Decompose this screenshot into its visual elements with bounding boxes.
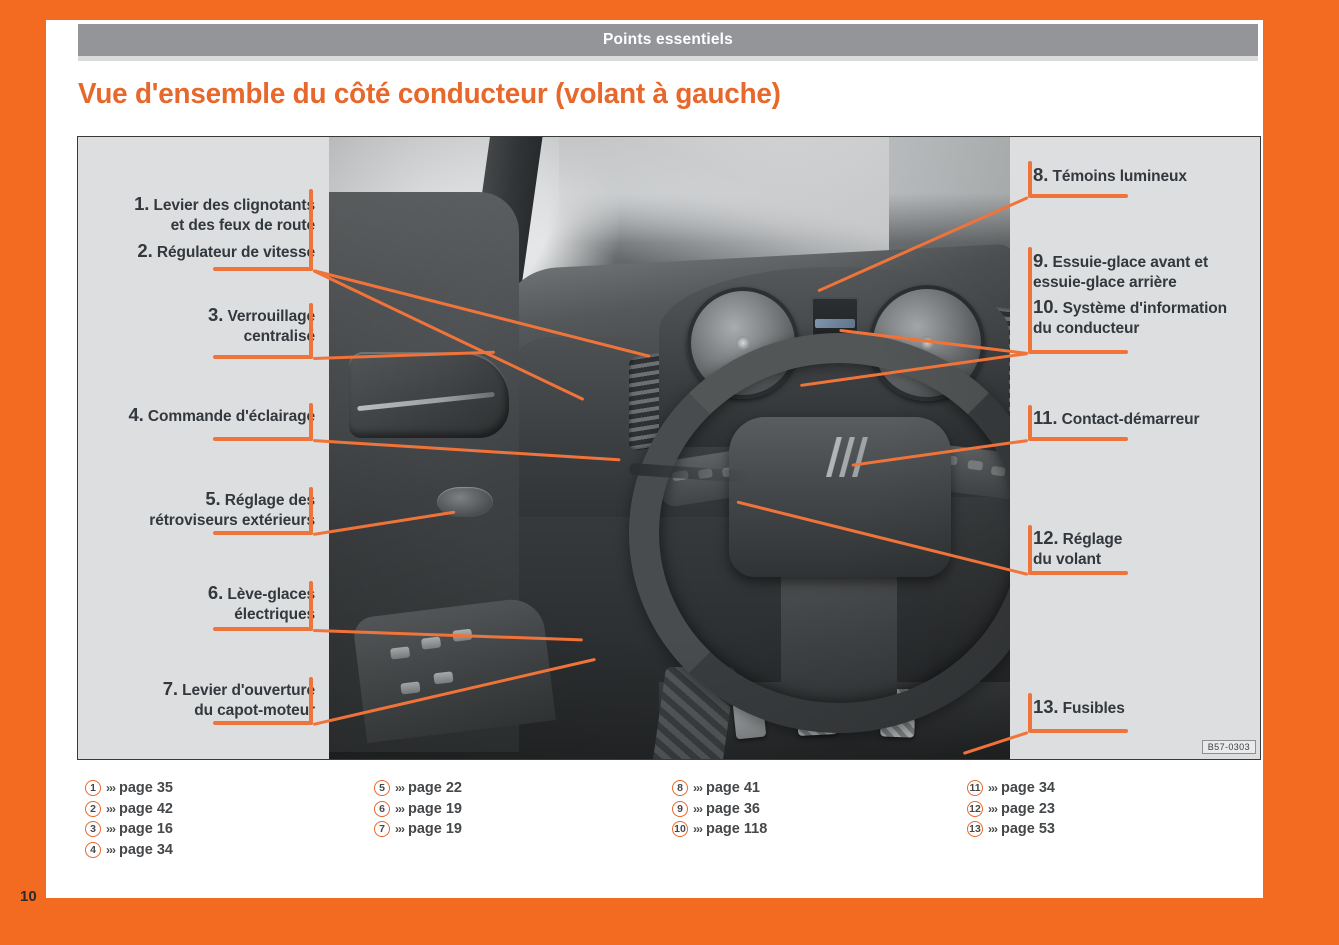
callout-10-line1: Système d'information bbox=[1063, 300, 1227, 317]
reference-column-4: 11 ››› page 34 12 ››› page 23 13 ››› pag… bbox=[967, 778, 1055, 840]
callout-3-line1: Verrouillage bbox=[227, 308, 315, 325]
ref-arrows-icon: ››› bbox=[395, 822, 404, 836]
callout-2-number: 2. bbox=[137, 240, 152, 261]
ref-arrows-icon: ››› bbox=[106, 843, 115, 857]
callout-3-number: 3. bbox=[208, 304, 223, 325]
reference-row[interactable]: 3 ››› page 16 bbox=[85, 819, 173, 840]
ref-badge: 10 bbox=[672, 821, 688, 837]
callout-9-number: 9. bbox=[1033, 250, 1048, 271]
ref-label: page 34 bbox=[1001, 780, 1055, 796]
callout-12-number: 12. bbox=[1033, 527, 1058, 548]
right-callout-panel bbox=[1010, 137, 1261, 759]
callout-4: 4. Commande d'éclairage bbox=[86, 403, 315, 427]
ref-badge: 2 bbox=[85, 801, 101, 817]
callout-8-line1: Témoins lumineux bbox=[1052, 168, 1186, 185]
callout-5-line2: rétroviseurs extérieurs bbox=[149, 512, 315, 529]
reference-row[interactable]: 1 ››› page 35 bbox=[85, 778, 173, 799]
page-reference-list: 1 ››› page 35 2 ››› page 42 3 ››› page 1… bbox=[77, 778, 1261, 868]
ref-badge: 6 bbox=[374, 801, 390, 817]
callout-13: 13. Fusibles bbox=[1033, 695, 1259, 719]
reference-row[interactable]: 6 ››› page 19 bbox=[374, 799, 462, 820]
ref-arrows-icon: ››› bbox=[106, 822, 115, 836]
ref-label: page 16 bbox=[119, 821, 173, 837]
callout-3: 3. Verrouillage centralisé bbox=[93, 303, 315, 348]
callout-13-number: 13. bbox=[1033, 696, 1058, 717]
ref-badge: 13 bbox=[967, 821, 983, 837]
callout-11: 11. Contact-démarreur bbox=[1033, 406, 1259, 430]
page-title: Vue d'ensemble du côté conducteur (volan… bbox=[78, 78, 1134, 111]
callout-8: 8. Témoins lumineux bbox=[1033, 163, 1259, 187]
reference-row[interactable]: 9 ››› page 36 bbox=[672, 799, 767, 820]
ref-label: page 19 bbox=[408, 821, 462, 837]
ref-label: page 35 bbox=[119, 780, 173, 796]
callout-6-line1: Lève-glaces bbox=[227, 586, 315, 603]
callout-2-line1: Régulateur de vitesse bbox=[157, 244, 315, 261]
callout-8-number: 8. bbox=[1033, 164, 1048, 185]
reference-column-1: 1 ››› page 35 2 ››› page 42 3 ››› page 1… bbox=[85, 778, 173, 860]
callout-7-number: 7. bbox=[163, 678, 178, 699]
chapter-header-bar: Points essentiels bbox=[78, 24, 1258, 56]
callout-1-number: 1. bbox=[134, 193, 149, 214]
figure-container: 1. Levier des clignotants et des feux de… bbox=[77, 136, 1261, 760]
reference-row[interactable]: 11 ››› page 34 bbox=[967, 778, 1055, 799]
ref-arrows-icon: ››› bbox=[106, 781, 115, 795]
callout-5-line1: Réglage des bbox=[225, 492, 315, 509]
callout-9-line1: Essuie-glace avant et bbox=[1052, 254, 1208, 271]
ref-label: page 36 bbox=[706, 801, 760, 817]
ref-label: page 22 bbox=[408, 780, 462, 796]
reference-row[interactable]: 13 ››› page 53 bbox=[967, 819, 1055, 840]
ref-arrows-icon: ››› bbox=[106, 802, 115, 816]
ref-arrows-icon: ››› bbox=[395, 781, 404, 795]
reference-column-2: 5 ››› page 22 6 ››› page 19 7 ››› page 1… bbox=[374, 778, 462, 840]
ref-arrows-icon: ››› bbox=[693, 802, 702, 816]
reference-row[interactable]: 12 ››› page 23 bbox=[967, 799, 1055, 820]
callout-5-number: 5. bbox=[205, 488, 220, 509]
ref-badge: 11 bbox=[967, 780, 983, 796]
callout-5: 5. Réglage des rétroviseurs extérieurs bbox=[86, 487, 315, 532]
ref-badge: 12 bbox=[967, 801, 983, 817]
ref-label: page 118 bbox=[706, 821, 767, 837]
callout-12-line1: Réglage bbox=[1063, 531, 1123, 548]
reference-row[interactable]: 10 ››› page 118 bbox=[672, 819, 767, 840]
reference-column-3: 8 ››› page 41 9 ››› page 36 10 ››› page … bbox=[672, 778, 767, 840]
reference-row[interactable]: 8 ››› page 41 bbox=[672, 778, 767, 799]
callout-12: 12. Réglage du volant bbox=[1033, 526, 1259, 571]
callout-6: 6. Lève-glaces électriques bbox=[93, 581, 315, 626]
callout-1-line1: Levier des clignotants bbox=[154, 197, 315, 214]
figure-reference-code: B57-0303 bbox=[1202, 740, 1256, 754]
reference-row[interactable]: 4 ››› page 34 bbox=[85, 840, 173, 861]
callout-1: 1. Levier des clignotants et des feux de… bbox=[93, 192, 315, 237]
ref-arrows-icon: ››› bbox=[693, 822, 702, 836]
callout-10: 10. Système d'information du conducteur bbox=[1033, 295, 1261, 340]
ref-badge: 7 bbox=[374, 821, 390, 837]
ref-badge: 9 bbox=[672, 801, 688, 817]
callout-12-line2: du volant bbox=[1033, 551, 1101, 568]
ref-arrows-icon: ››› bbox=[988, 781, 997, 795]
callout-6-number: 6. bbox=[208, 582, 223, 603]
callout-11-number: 11. bbox=[1033, 407, 1057, 428]
callout-7-line2: du capot-moteur bbox=[194, 702, 315, 719]
ref-label: page 41 bbox=[706, 780, 760, 796]
callout-9: 9. Essuie-glace avant et essuie-glace ar… bbox=[1033, 249, 1261, 294]
callout-13-line1: Fusibles bbox=[1063, 700, 1125, 717]
ref-badge: 4 bbox=[85, 842, 101, 858]
ref-label: page 34 bbox=[119, 842, 173, 858]
ref-label: page 42 bbox=[119, 801, 173, 817]
ref-badge: 3 bbox=[85, 821, 101, 837]
ref-arrows-icon: ››› bbox=[988, 802, 997, 816]
page-number: 10 bbox=[20, 888, 37, 905]
ref-label: page 23 bbox=[1001, 801, 1055, 817]
callout-10-line2: du conducteur bbox=[1033, 320, 1139, 337]
ref-arrows-icon: ››› bbox=[693, 781, 702, 795]
callout-3-line2: centralisé bbox=[244, 328, 315, 345]
ref-arrows-icon: ››› bbox=[395, 802, 404, 816]
callout-6-line2: électriques bbox=[234, 606, 315, 623]
reference-row[interactable]: 2 ››› page 42 bbox=[85, 799, 173, 820]
ref-badge: 5 bbox=[374, 780, 390, 796]
callout-10-number: 10. bbox=[1033, 296, 1058, 317]
ref-label: page 53 bbox=[1001, 821, 1055, 837]
callout-11-line1: Contact-démarreur bbox=[1062, 411, 1200, 428]
callout-7: 7. Levier d'ouverture du capot-moteur bbox=[86, 677, 315, 722]
callout-9-line2: essuie-glace arrière bbox=[1033, 274, 1177, 291]
ref-badge: 8 bbox=[672, 780, 688, 796]
callout-7-line1: Levier d'ouverture bbox=[182, 682, 315, 699]
callout-4-line1: Commande d'éclairage bbox=[148, 408, 315, 425]
ref-arrows-icon: ››› bbox=[988, 822, 997, 836]
reference-row[interactable]: 5 ››› page 22 bbox=[374, 778, 462, 799]
chapter-header-title: Points essentiels bbox=[603, 31, 733, 49]
callout-4-number: 4. bbox=[128, 404, 143, 425]
ref-label: page 19 bbox=[408, 801, 462, 817]
callout-1-line2: et des feux de route bbox=[171, 217, 315, 234]
callout-2: 2. Régulateur de vitesse bbox=[93, 239, 315, 263]
ref-badge: 1 bbox=[85, 780, 101, 796]
reference-row[interactable]: 7 ››› page 19 bbox=[374, 819, 462, 840]
